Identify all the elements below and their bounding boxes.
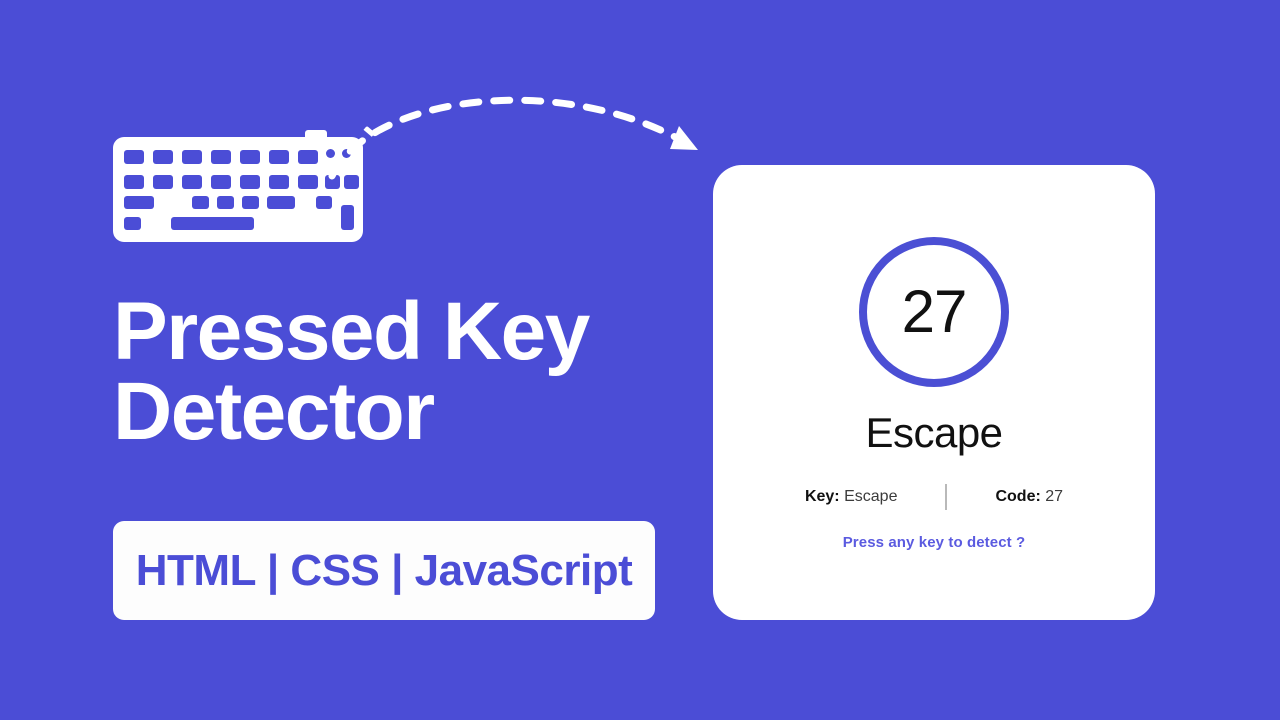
key-meta-code: Code: 27 (995, 488, 1063, 506)
tech-stack-badge: HTML | CSS | JavaScript (113, 521, 655, 620)
keyboard-icon (113, 130, 363, 242)
app-root: Pressed Key Detector HTML | CSS | JavaSc… (0, 0, 1280, 720)
page-title: Pressed Key Detector (113, 292, 673, 453)
key-meta-key-value: Escape (844, 488, 897, 505)
dashed-curved-arrow-icon (330, 78, 720, 178)
press-key-hint: Press any key to detect ? (843, 534, 1026, 551)
hero-section: Pressed Key Detector (113, 130, 673, 508)
key-detector-card: 27 Escape Key: Escape Code: 27 Press any… (713, 165, 1155, 620)
tech-stack-label: HTML | CSS | JavaScript (136, 546, 632, 596)
keyboard-body (113, 137, 363, 242)
key-code-value: 27 (902, 282, 967, 342)
key-meta-code-label: Code: (995, 488, 1040, 505)
key-meta-code-value: 27 (1045, 488, 1063, 505)
key-meta-key-label: Key: (805, 488, 840, 505)
meta-divider (945, 484, 947, 510)
pressed-key-name: Escape (865, 412, 1002, 454)
key-meta-key: Key: Escape (805, 488, 898, 506)
key-meta-row: Key: Escape Code: 27 (805, 484, 1063, 510)
key-code-circle: 27 (859, 237, 1009, 387)
